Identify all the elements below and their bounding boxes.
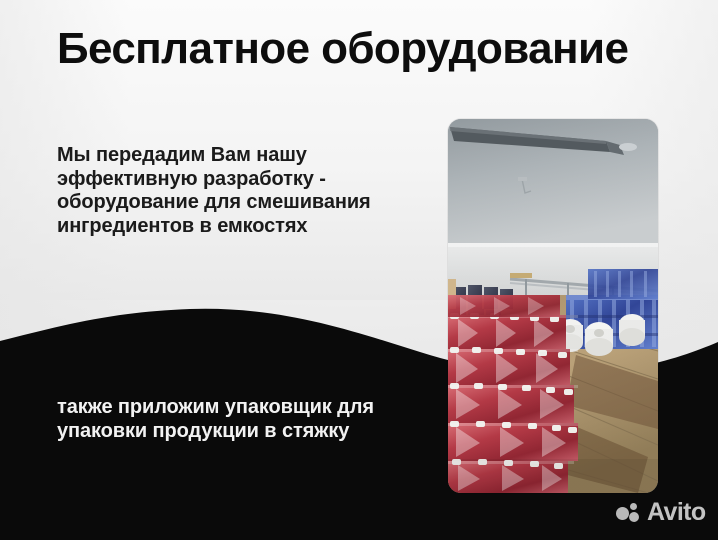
offer-description-primary: Мы передадим Вам нашу эффективную разраб…	[57, 144, 417, 238]
page-title: Бесплатное оборудование	[57, 24, 628, 74]
warehouse-photo	[448, 119, 658, 493]
offer-description-secondary: также приложим упаковщик для упаковки пр…	[57, 396, 387, 443]
avito-dot-large	[616, 507, 629, 520]
avito-dot-small	[630, 503, 637, 510]
avito-logo-icon	[616, 502, 642, 524]
avito-dot-medium	[629, 512, 639, 522]
promo-slide: Бесплатное оборудование Мы передадим Вам…	[0, 0, 718, 540]
avito-watermark: Avito	[616, 500, 706, 525]
avito-brand-label: Avito	[647, 500, 706, 525]
